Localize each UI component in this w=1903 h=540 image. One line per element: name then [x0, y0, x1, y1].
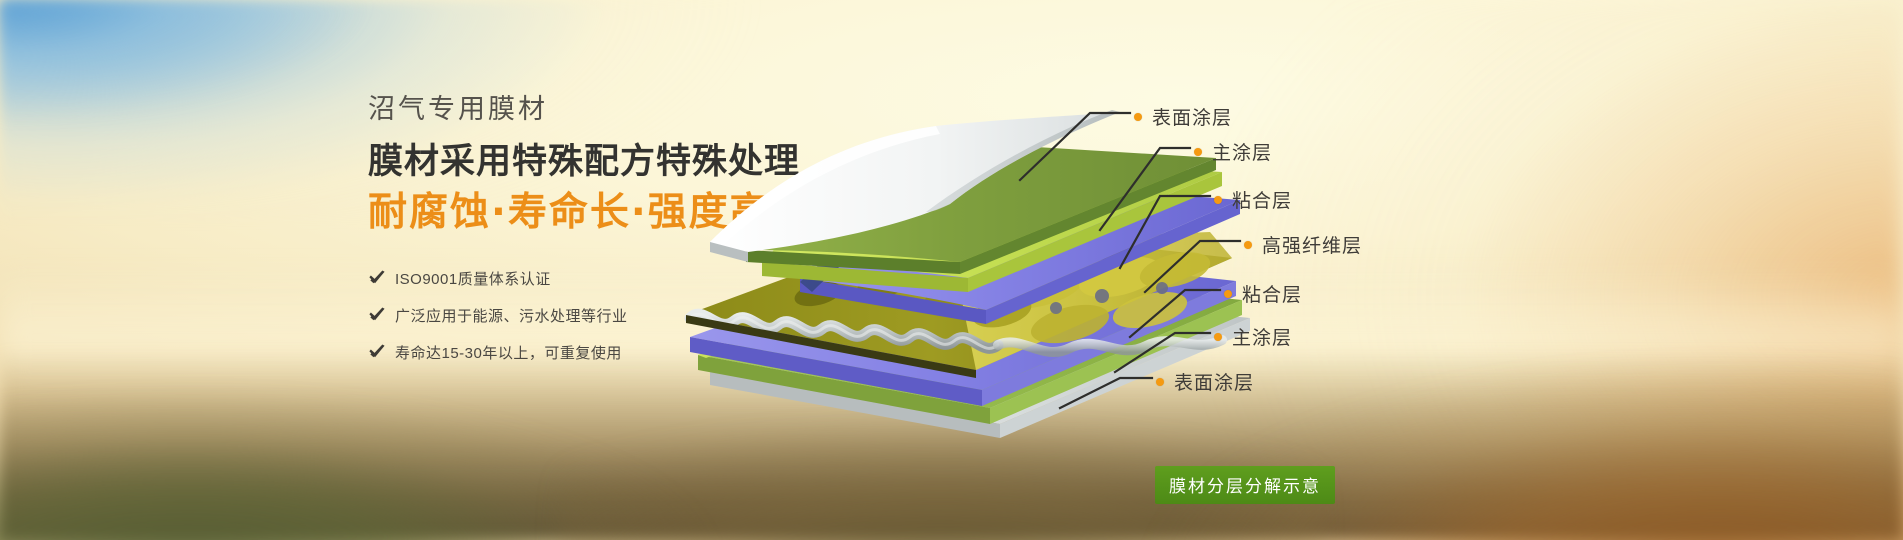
- callout-dot-icon: [1134, 113, 1142, 121]
- callout-fiber-layer: 高强纤维层: [1244, 231, 1362, 258]
- callout-label: 粘合层: [1242, 280, 1302, 307]
- callout-dot-icon: [1156, 378, 1164, 386]
- callout-adhesive-bottom: 粘合层: [1224, 280, 1302, 307]
- callout-dot-icon: [1244, 241, 1252, 249]
- callout-label: 主涂层: [1232, 323, 1292, 350]
- callout-surface-coating-top: 表面涂层: [1134, 103, 1232, 130]
- callout-dot-icon: [1194, 148, 1202, 156]
- callout-label: 表面涂层: [1174, 368, 1254, 395]
- callout-adhesive-top: 粘合层: [1214, 186, 1292, 213]
- callout-dot-icon: [1214, 333, 1222, 341]
- callout-list: 表面涂层 主涂层 粘合层 高强纤维层 粘合层 主涂层 表面涂层: [0, 0, 1903, 540]
- callout-dot-icon: [1224, 290, 1232, 298]
- callout-main-coating-top: 主涂层: [1194, 138, 1272, 165]
- banner: 沼气专用膜材 膜材采用特殊配方特殊处理 耐腐蚀·寿命长·强度高 ISO9001质…: [0, 0, 1903, 540]
- callout-label: 粘合层: [1232, 186, 1292, 213]
- callout-dot-icon: [1214, 196, 1222, 204]
- callout-label: 高强纤维层: [1262, 231, 1362, 258]
- callout-label: 主涂层: [1212, 138, 1272, 165]
- callout-label: 表面涂层: [1152, 103, 1232, 130]
- diagram-caption-badge: 膜材分层分解示意: [1155, 466, 1335, 504]
- callout-main-coating-bottom: 主涂层: [1214, 323, 1292, 350]
- callout-surface-coating-bottom: 表面涂层: [1156, 368, 1254, 395]
